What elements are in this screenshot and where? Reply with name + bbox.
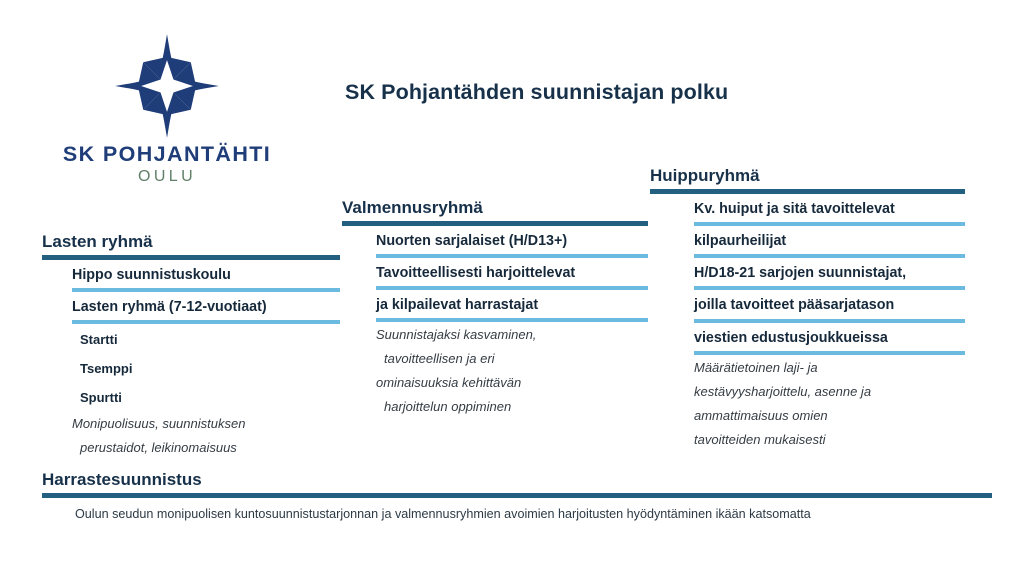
page-title: SK Pohjantähden suunnistajan polku [345,80,728,105]
column-heading: Lasten ryhmä [42,232,340,255]
group-item: Kv. huiput ja sitä tavoittelevat [694,194,965,222]
harrastesuunnistus-section: Harrastesuunnistus Oulun seudun monipuol… [42,470,992,521]
description-line: harjoittelun oppiminen [376,394,648,418]
club-logo: SK POHJANTÄHTI OULU [52,32,282,186]
group-item: Tavoitteellisesti harjoittelevat [376,258,648,286]
group-column-lasten-ryhma: Lasten ryhmä Hippo suunnistuskoulu Laste… [42,232,340,459]
tier-item: Spurtti [72,382,340,411]
description-line: perustaidot, leikinomaisuus [72,435,340,459]
group-item: Nuorten sarjalaiset (H/D13+) [376,226,648,254]
description-line: ammattimaisuus omien [694,403,965,427]
description-line: ominaisuuksia kehittävän [376,370,648,394]
group-item: joilla tavoitteet pääsarjatason [694,290,965,318]
description-line: Monipuolisuus, suunnistuksen [72,411,340,435]
group-item: ja kilpailevat harrastajat [376,290,648,318]
column-body: Kv. huiput ja sitä tavoittelevat kilpaur… [650,194,965,451]
description-line: tavoitteiden mukaisesti [694,427,965,451]
section-heading: Harrastesuunnistus [42,470,992,493]
logo-subword: OULU [52,168,282,186]
column-body: Hippo suunnistuskoulu Lasten ryhmä (7-12… [42,260,340,460]
group-item: Lasten ryhmä (7-12-vuotiaat) [72,292,340,320]
compass-star-icon [113,32,221,140]
column-heading: Huippuryhmä [650,166,965,189]
group-item: H/D18-21 sarjojen suunnistajat, [694,258,965,286]
description-line: Suunnistajaksi kasvaminen, [376,322,648,346]
group-column-huippuryhma: Huippuryhmä Kv. huiput ja sitä tavoittel… [650,166,965,451]
tier-item: Tsemppi [72,353,340,382]
logo-wordmark: SK POHJANTÄHTI [52,142,282,167]
section-description: Oulun seudun monipuolisen kuntosuunnistu… [42,498,992,521]
column-body: Nuorten sarjalaiset (H/D13+) Tavoitteell… [342,226,648,419]
group-item: Hippo suunnistuskoulu [72,260,340,288]
group-item: kilpaurheilijat [694,226,965,254]
group-item: viestien edustusjoukkueissa [694,323,965,351]
group-column-valmennusryhma: Valmennusryhmä Nuorten sarjalaiset (H/D1… [342,198,648,418]
description-line: Määrätietoinen laji- ja [694,355,965,379]
column-heading: Valmennusryhmä [342,198,648,221]
description-line: tavoitteellisen ja eri [376,346,648,370]
tier-item: Startti [72,324,340,353]
description-line: kestävyysharjoittelu, asenne ja [694,379,965,403]
